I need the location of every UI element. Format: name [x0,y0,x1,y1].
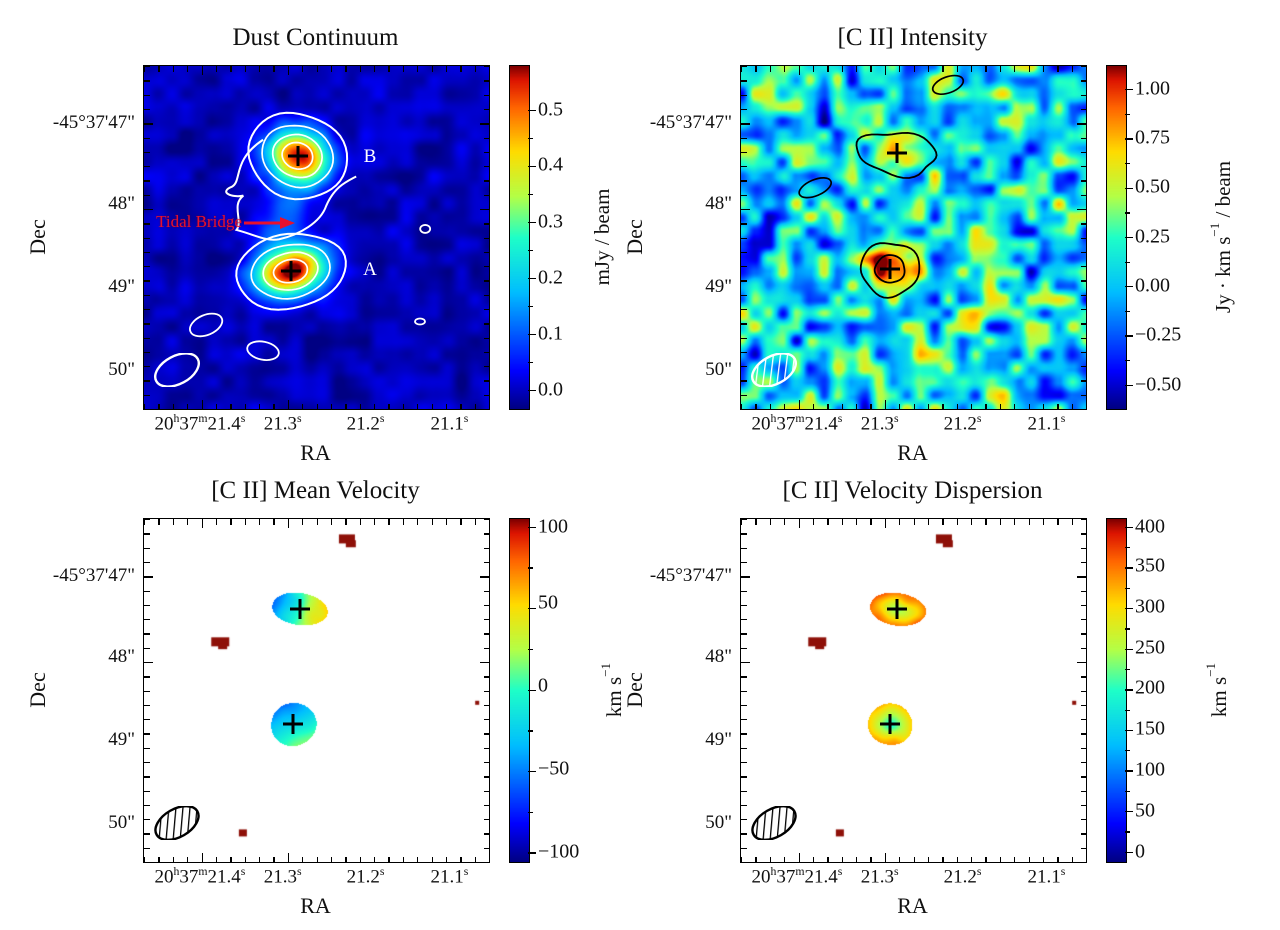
axis-tick [741,195,747,196]
x-tick-label: 21.2s [347,865,385,888]
axis-tick [144,605,150,606]
x-tick-label: 21.2s [944,865,982,888]
axis-tick [484,366,490,367]
axis-tick [475,66,476,72]
axis-tick [1081,323,1087,324]
x-tick-label: 21.3s [264,412,302,435]
axis-tick [480,662,489,663]
colorbar-cii-mean-velocity[interactable] [509,518,530,863]
colorbar-tick [528,852,536,853]
axis-tick [259,857,260,863]
axis-tick [144,352,150,353]
colorbar-tick [1125,649,1133,650]
axis-tick [1057,66,1058,72]
map-dust-continuum[interactable]: BATidal Bridge [143,65,490,410]
colorbar-tick [528,222,536,223]
colorbar-tick [528,730,533,731]
axis-tick [1081,833,1087,834]
y-axis-label: Dec [622,219,648,254]
axis-tick [144,295,150,296]
axis-tick [741,166,747,167]
axis-tick [985,404,986,410]
axis-tick [741,80,747,81]
x-tick-label: 21.3s [861,865,899,888]
axis-tick [484,80,490,81]
axis-tick [741,733,747,734]
axis-tick [288,853,289,862]
axis-tick [1014,857,1015,863]
axis-tick [259,404,260,410]
axis-tick [1081,252,1087,253]
axis-tick [899,66,900,72]
axis-tick [158,519,159,525]
colorbar-tick-label: 0.00 [1135,274,1170,297]
colorbar-tick-label: 200 [1135,677,1165,700]
axis-tick [144,819,150,820]
axis-tick [317,404,318,410]
panel-title-cii-velocity-dispersion: [C II] Velocity Dispersion [740,477,1085,505]
axis-tick [187,66,188,72]
axis-tick [345,857,346,863]
colorbar-tick-label: 250 [1135,636,1165,659]
axis-tick [770,519,771,525]
colorbar-tick [1125,689,1133,690]
colorbar-tick [1125,831,1130,832]
axis-tick [928,857,929,863]
source-marker-A [879,258,901,280]
axis-tick [484,848,490,849]
axis-tick [230,519,231,525]
colorbar-tick [1125,286,1133,287]
axis-tick [1077,662,1086,663]
axis-tick [741,223,747,224]
y-tick-label: 49" [705,276,732,298]
colorbar-tick [528,608,536,609]
axis-tick [741,180,747,181]
axis-tick [741,691,747,692]
axis-tick [317,66,318,72]
axis-tick [1014,519,1015,525]
axis-tick [1081,152,1087,153]
colorbar-tick-label: 0 [538,675,548,698]
colorbar-tick [1125,750,1130,751]
axis-tick [158,857,159,863]
axis-tick [870,519,871,525]
y-tick-label: 50" [705,812,732,834]
axis-tick [417,404,418,410]
axis-tick [144,719,150,720]
axis-tick [741,95,747,96]
axis-tick [914,404,915,410]
axis-tick [928,404,929,410]
axis-tick [245,66,246,72]
map-cii-intensity[interactable] [740,65,1087,410]
axis-tick [1081,762,1087,763]
axis-tick [914,519,915,525]
colorbar-tick [1125,335,1133,336]
axis-tick [1077,209,1086,210]
axis-tick [741,862,747,863]
colorbar-tick [1125,628,1130,629]
axis-tick [460,857,461,863]
axis-tick [484,252,490,253]
axis-tick [741,848,747,849]
axis-tick [741,295,747,296]
axis-tick [1081,66,1087,67]
axis-tick [202,66,203,75]
axis-tick [446,66,447,72]
colorbar-tick-label: 0.1 [538,322,563,345]
axis-tick [1000,66,1001,72]
axis-tick [985,857,986,863]
colorbar-tick [528,390,536,391]
axis-tick [245,404,246,410]
axis-tick [484,691,490,692]
axis-tick [870,66,871,72]
axis-tick [741,705,747,706]
colorbar-tick-label: 350 [1135,555,1165,578]
axis-tick [885,853,886,862]
source-marker-B [289,598,311,620]
axis-tick [144,366,150,367]
y-tick-label: 49" [108,729,135,751]
colorbar-tick [528,690,536,691]
axis-tick [1086,66,1087,72]
x-tick-label: 21.1s [430,412,468,435]
axis-tick [971,404,972,410]
axis-tick [741,791,747,792]
axis-tick [1057,404,1058,410]
colorbar-tick [528,278,536,279]
axis-tick [360,857,361,863]
colorbar-tick [1125,588,1130,589]
axis-tick [317,519,318,525]
axis-tick [1086,404,1087,410]
axis-tick [230,857,231,863]
axis-tick [1081,309,1087,310]
axis-tick [1081,633,1087,634]
colorbar-dust-continuum[interactable] [509,65,530,410]
axis-tick [1081,223,1087,224]
x-tick-label: 21.1s [430,865,468,888]
colorbar-tick [1125,385,1133,386]
axis-tick [799,66,800,75]
axis-tick [1081,352,1087,353]
colorbar-gradient [1107,519,1126,862]
axis-tick [345,66,346,72]
axis-tick [484,352,490,353]
axis-tick [331,404,332,410]
colorbar-tick [1125,791,1130,792]
axis-tick [842,66,843,72]
axis-tick [489,404,490,410]
panel-title-cii-mean-velocity: [C II] Mean Velocity [143,477,488,505]
axis-tick [480,576,489,577]
colorbar-tick [528,567,533,568]
axis-tick [245,519,246,525]
axis-tick [827,519,828,525]
axis-tick [741,648,747,649]
axis-tick [484,66,490,67]
colorbar-tick-label: 300 [1135,595,1165,618]
axis-tick [360,519,361,525]
axis-tick [484,762,490,763]
axis-tick [417,857,418,863]
axis-tick [144,562,150,563]
axis-tick [1081,295,1087,296]
axis-tick [144,309,150,310]
axis-tick [446,404,447,410]
axis-tick [1014,66,1015,72]
axis-tick [741,562,747,563]
axis-tick [1029,404,1030,410]
axis-tick [484,533,490,534]
x-axis-label: RA [300,893,331,919]
x-tick-label: 21.1s [1027,865,1065,888]
axis-tick [245,857,246,863]
axis-tick [1029,857,1030,863]
axis-tick [1000,404,1001,410]
axis-tick [144,266,150,267]
axis-tick [741,633,747,634]
axis-tick [741,748,747,749]
axis-tick [741,819,747,820]
axis-tick [899,519,900,525]
axis-tick [173,519,174,525]
axis-tick [144,791,150,792]
axis-tick [842,857,843,863]
axis-tick [1081,733,1087,734]
colorbar-tick-label: 0.50 [1135,176,1170,199]
axis-tick [144,748,150,749]
axis-tick [1081,548,1087,549]
axis-tick [484,280,490,281]
y-tick-label: -45°37'47" [650,565,732,587]
axis-tick [755,519,756,525]
axis-tick [144,805,150,806]
axis-tick [273,519,274,525]
colorbar-tick-label: 150 [1135,718,1165,741]
axis-tick [173,66,174,72]
axis-tick [1081,238,1087,239]
axis-tick [403,404,404,410]
axis-tick [1081,705,1087,706]
axis-tick [484,180,490,181]
tidal-bridge-arrow-icon [244,216,296,230]
axis-tick [842,404,843,410]
axis-tick [942,857,943,863]
axis-tick [484,152,490,153]
axis-tick [484,791,490,792]
axis-tick [784,66,785,72]
axis-tick [1081,848,1087,849]
axis-tick [144,676,150,677]
axis-tick [144,209,153,210]
axis-tick [741,762,747,763]
axis-tick [799,400,800,409]
axis-tick [484,676,490,677]
axis-tick [1081,519,1087,520]
axis-tick [374,519,375,525]
axis-tick [741,833,747,834]
axis-tick [957,857,958,863]
beam-ellipse [748,353,800,387]
axis-tick [856,857,857,863]
axis-tick [741,805,747,806]
axis-tick [827,857,828,863]
axis-tick [187,519,188,525]
axis-tick [388,857,389,863]
axis-tick [1072,857,1073,863]
axis-tick [484,323,490,324]
x-axis-label: RA [897,440,928,466]
map-cii-mean-velocity[interactable] [143,518,490,863]
y-tick-label: -45°37'47" [53,565,135,587]
colorbar-tick-label: 0.4 [538,154,563,177]
colorbar-tick [528,812,533,813]
axis-tick [755,404,756,410]
axis-tick [741,138,747,139]
y-tick-label: 48" [108,193,135,215]
axis-tick [1081,719,1087,720]
axis-tick [1081,180,1087,181]
axis-tick [942,404,943,410]
axis-tick [484,223,490,224]
axis-tick [1081,366,1087,367]
panel-title-dust-continuum: Dust Continuum [143,24,488,52]
colorbar-cii-velocity-dispersion[interactable] [1106,518,1127,863]
x-tick-label: 20h37m21.4s [751,865,842,888]
axis-tick [374,857,375,863]
tidal-bridge-label: Tidal Bridge [156,212,242,231]
axis-tick [144,648,150,649]
colorbar-cii-intensity[interactable] [1106,65,1127,410]
axis-tick [741,209,750,210]
axis-tick [741,719,747,720]
axis-tick [144,180,150,181]
axis-tick [957,519,958,525]
axis-tick [345,404,346,410]
axis-tick [144,138,150,139]
axis-tick [1081,748,1087,749]
axis-tick [1043,404,1044,410]
axis-tick [484,605,490,606]
axis-tick [741,619,747,620]
axis-tick [770,857,771,863]
axis-tick [484,562,490,563]
axis-tick [158,404,159,410]
axis-tick [489,857,490,863]
axis-tick [144,123,153,124]
axis-tick [1081,95,1087,96]
axis-tick [144,519,150,520]
colorbar-unit-label: km s−1 [1203,662,1232,716]
axis-tick [1081,591,1087,592]
colorbar-tick [528,194,533,195]
colorbar-tick-label: 1.00 [1135,78,1170,101]
axis-tick [914,66,915,72]
axis-tick [288,66,289,75]
axis-tick [741,123,750,124]
axis-tick [446,519,447,525]
y-axis-label: Dec [25,219,51,254]
axis-tick [1029,66,1030,72]
axis-tick [1029,519,1030,525]
source-marker-A [282,713,304,735]
axis-tick [144,409,150,410]
y-tick-label: 50" [108,359,135,381]
map-cii-velocity-dispersion[interactable] [740,518,1087,863]
axis-tick [144,833,150,834]
axis-tick [985,66,986,72]
axis-tick [158,66,159,72]
axis-tick [741,776,747,777]
axis-tick [1081,338,1087,339]
axis-tick [144,548,150,549]
colorbar-tick-label: 0.5 [538,98,563,121]
axis-tick [856,404,857,410]
axis-tick [432,857,433,863]
axis-tick [741,366,747,367]
axis-tick [957,66,958,72]
axis-tick [475,519,476,525]
axis-tick [741,591,747,592]
axis-tick [971,519,972,525]
x-tick-label: 20h37m21.4s [751,412,842,435]
axis-tick [144,95,150,96]
axis-tick [1000,519,1001,525]
axis-tick [928,66,929,72]
axis-tick [914,857,915,863]
colorbar-tick-label: 0.3 [538,210,563,233]
x-tick-label: 21.3s [861,412,899,435]
axis-tick [741,109,747,110]
axis-tick [1072,404,1073,410]
colorbar-gradient [1107,66,1126,409]
axis-tick [784,857,785,863]
colorbar-tick [1125,608,1133,609]
axis-tick [741,548,747,549]
axis-tick [331,519,332,525]
axis-tick [1081,648,1087,649]
axis-tick [1072,66,1073,72]
colorbar-tick-label: 0.75 [1135,127,1170,150]
colorbar-tick [1125,360,1130,361]
axis-tick [144,166,150,167]
colorbar-tick-label: −50 [538,758,569,781]
axis-tick [827,404,828,410]
axis-tick [1014,404,1015,410]
axis-tick [475,404,476,410]
axis-tick [144,591,150,592]
colorbar-tick [1125,547,1130,548]
axis-tick [432,404,433,410]
axis-tick [1057,857,1058,863]
axis-tick [484,733,490,734]
axis-tick [144,576,153,577]
axis-tick [302,857,303,863]
axis-tick [403,519,404,525]
axis-tick [302,66,303,72]
axis-tick [484,633,490,634]
axis-tick [842,519,843,525]
colorbar-tick [528,250,533,251]
axis-tick [1081,819,1087,820]
axis-tick [259,519,260,525]
axis-tick [741,576,750,577]
axis-tick [741,676,747,677]
y-tick-label: 49" [108,276,135,298]
